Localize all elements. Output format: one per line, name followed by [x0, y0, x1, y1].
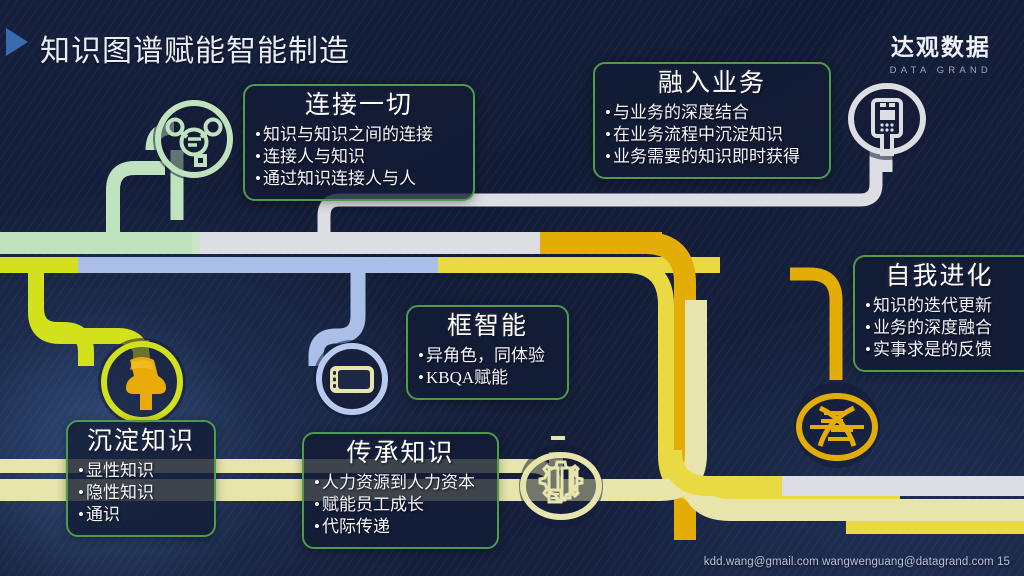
card-title: 自我进化: [865, 263, 1014, 292]
list-item: 赋能员工成长: [314, 494, 487, 516]
card-bullets: 知识的迭代更新 业务的深度融合 实事求是的反馈: [865, 295, 1014, 361]
card-title: 框智能: [418, 313, 557, 342]
card-self-evolution[interactable]: 自我进化 知识的迭代更新 业务的深度融合 实事求是的反馈: [853, 255, 1024, 372]
list-item: 业务的深度融合: [865, 317, 1014, 339]
list-item: 连接人与知识: [255, 146, 463, 168]
card-bullets: 异角色，同体验 KBQA赋能: [418, 345, 557, 389]
list-item: 知识的迭代更新: [865, 295, 1014, 317]
card-title: 传承知识: [314, 440, 487, 469]
list-item: 人力资源到人力资本: [314, 472, 487, 494]
list-item: 实事求是的反馈: [865, 339, 1014, 361]
card-title: 连接一切: [255, 92, 463, 121]
card-precipitate-knowledge[interactable]: 沉淀知识 显性知识 隐性知识 通识: [66, 420, 216, 537]
list-item: 知识与知识之间的连接: [255, 124, 463, 146]
card-frame-intelligence[interactable]: 框智能 异角色，同体验 KBQA赋能: [406, 305, 569, 400]
card-inherit-knowledge[interactable]: 传承知识 人力资源到人力资本 赋能员工成长 代际传递: [302, 432, 499, 549]
list-item: 通识: [78, 504, 204, 526]
list-item: 代际传递: [314, 516, 487, 538]
list-item: 与业务的深度结合: [605, 102, 819, 124]
card-bullets: 与业务的深度结合 在业务流程中沉淀知识 业务需要的知识即时获得: [605, 102, 819, 168]
list-item: 在业务流程中沉淀知识: [605, 124, 819, 146]
card-connect-everything[interactable]: 连接一切 知识与知识之间的连接 连接人与知识 通过知识连接人与人: [243, 84, 475, 201]
card-bullets: 人力资源到人力资本 赋能员工成长 代际传递: [314, 472, 487, 538]
slide-canvas: 连接一切 知识与知识之间的连接 连接人与知识 通过知识连接人与人 融入业务 与业…: [0, 0, 1024, 576]
card-bullets: 知识与知识之间的连接 连接人与知识 通过知识连接人与人: [255, 124, 463, 190]
card-bullets: 显性知识 隐性知识 通识: [78, 460, 204, 526]
content-cards: 连接一切 知识与知识之间的连接 连接人与知识 通过知识连接人与人 融入业务 与业…: [0, 0, 1024, 576]
list-item: 异角色，同体验: [418, 345, 557, 367]
list-item: 隐性知识: [78, 482, 204, 504]
card-title: 融入业务: [605, 70, 819, 99]
list-item: KBQA赋能: [418, 367, 557, 389]
list-item: 显性知识: [78, 460, 204, 482]
card-title: 沉淀知识: [78, 428, 204, 457]
list-item: 通过知识连接人与人: [255, 168, 463, 190]
list-item: 业务需要的知识即时获得: [605, 146, 819, 168]
card-integrate-business[interactable]: 融入业务 与业务的深度结合 在业务流程中沉淀知识 业务需要的知识即时获得: [593, 62, 831, 179]
